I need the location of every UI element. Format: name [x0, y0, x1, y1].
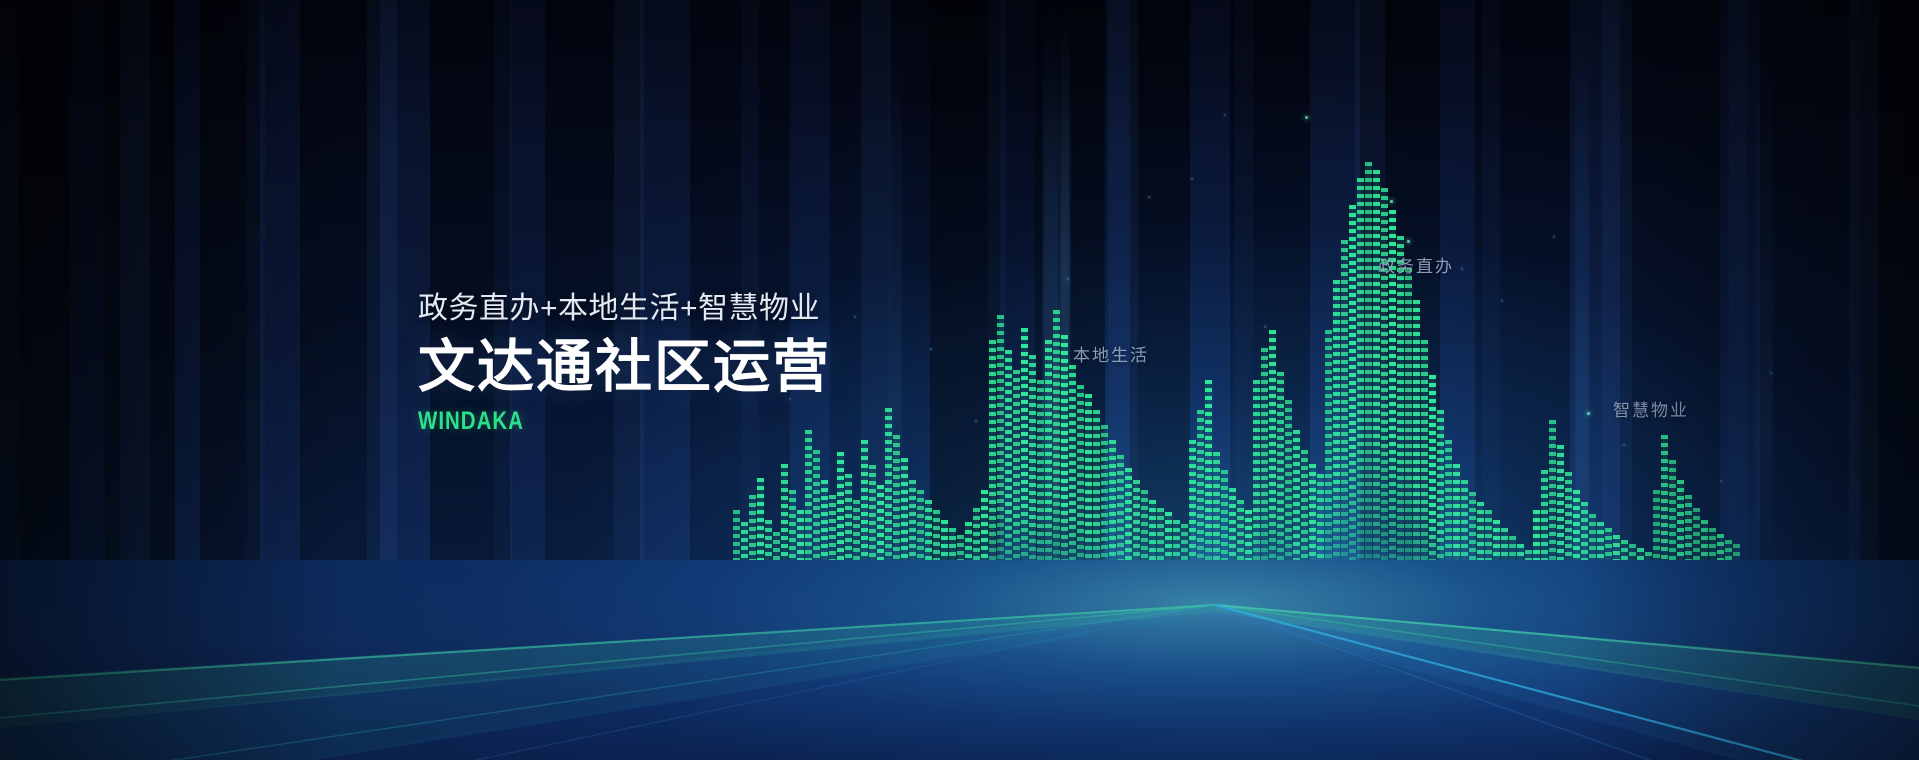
light-beam-1 — [1043, 0, 1059, 610]
floating-label-government-service: 政务直办 — [1378, 252, 1454, 277]
perspective-ground-plane — [0, 560, 1919, 760]
headline-copy-block: 政务直办+本地生活+智慧物业 文达通社区运营 WINDAKA — [418, 289, 1038, 435]
light-beam-2 — [1060, 0, 1070, 600]
floating-label-smart-property: 智慧物业 — [1613, 396, 1689, 421]
floating-label-local-life: 本地生活 — [1073, 341, 1149, 366]
light-beam-4 — [890, 0, 902, 560]
brand-wordmark: WINDAKA — [418, 407, 926, 435]
banner-subtitle: 政务直办+本地生活+智慧物业 — [418, 289, 1038, 329]
hero-banner: 本地生活 政务直办 智慧物业 政务直办+本地生活+智慧物业 文达通社区运营 WI… — [0, 0, 1919, 760]
light-beam-5 — [1755, 0, 1773, 600]
light-beam-3 — [1575, 0, 1589, 620]
road-perspective-lines — [0, 560, 1919, 760]
banner-headline: 文达通社区运营 — [418, 335, 1038, 399]
